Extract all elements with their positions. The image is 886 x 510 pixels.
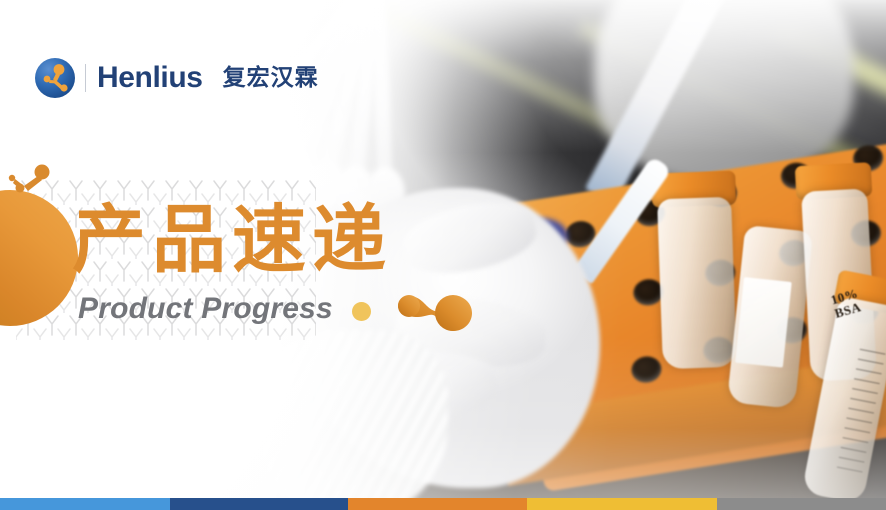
color-bar-segment-light-blue xyxy=(0,498,170,510)
small-yellow-dot xyxy=(352,302,371,321)
orange-metaball-shape xyxy=(392,288,474,336)
color-bar-segment-yellow xyxy=(527,498,717,510)
logo-name-en: Henlius xyxy=(97,63,203,93)
color-bar-segment-gray xyxy=(717,498,886,510)
color-bar-segment-dark-blue xyxy=(170,498,348,510)
antibody-accent-icon xyxy=(4,164,58,200)
henlius-logo[interactable]: Henlius 复宏汉霖 xyxy=(34,57,319,99)
logo-name-cn: 复宏汉霖 xyxy=(223,67,319,90)
page-title-en: Product Progress xyxy=(78,292,333,325)
page-title-cn: 产品速递 xyxy=(72,203,392,277)
color-bar-segment-orange xyxy=(348,498,527,510)
bottom-color-bar xyxy=(0,498,886,510)
henlius-antibody-mark-icon xyxy=(34,57,76,99)
product-progress-slide: 10% BSA Block xyxy=(0,0,886,510)
logo-divider xyxy=(85,64,86,92)
